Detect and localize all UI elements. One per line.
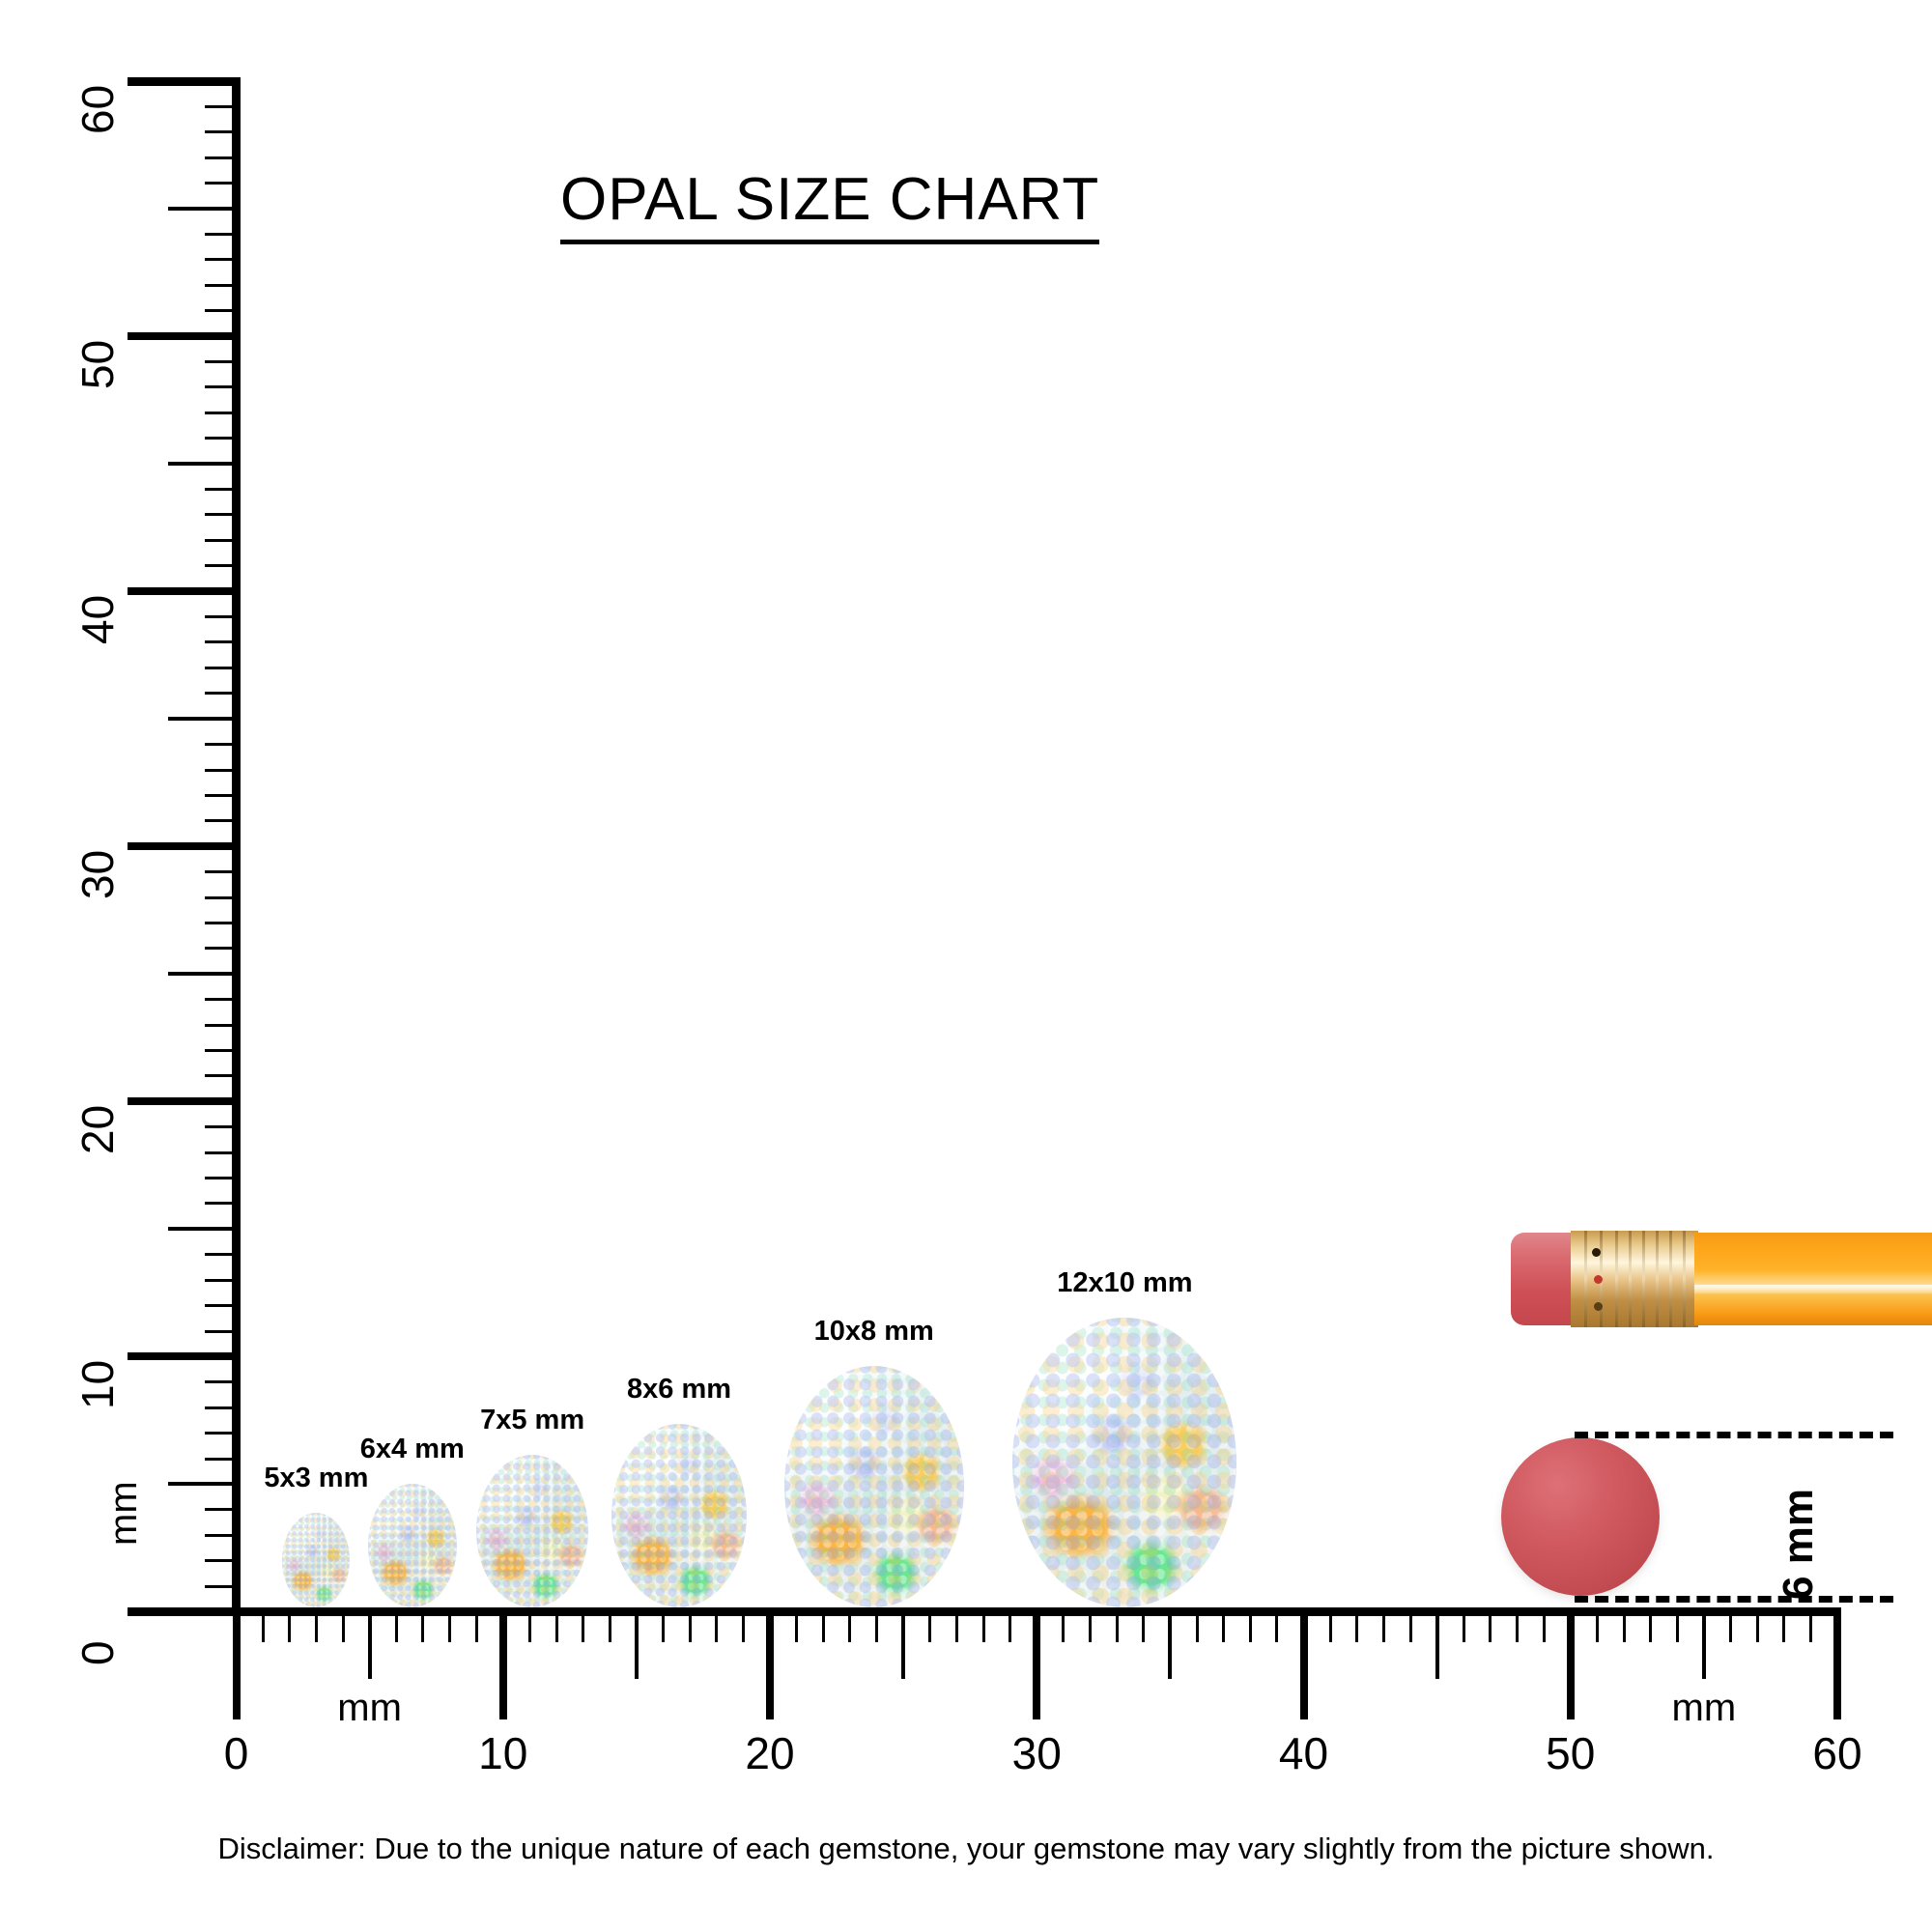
- hruler-tick-37: [1222, 1615, 1225, 1642]
- gemstone-8x6-mm: [611, 1424, 747, 1607]
- gemstone-label-5: 12x10 mm: [1057, 1269, 1192, 1297]
- hruler-tick-47: [1489, 1615, 1492, 1642]
- hruler-tick-51: [1596, 1615, 1599, 1642]
- hruler-number-10: 10: [478, 1731, 527, 1776]
- ferrule-dot-2: [1594, 1302, 1603, 1311]
- hruler-unit-label-1: mm: [1672, 1689, 1737, 1727]
- hruler-tick-25: [901, 1615, 905, 1679]
- hruler-tick-31: [1062, 1615, 1065, 1642]
- hruler-number-40: 40: [1279, 1731, 1328, 1776]
- hruler-number-50: 50: [1546, 1731, 1595, 1776]
- hruler-tick-7: [421, 1615, 424, 1642]
- gemstone-label-2: 7x5 mm: [480, 1406, 584, 1435]
- pencil-ferrule: [1571, 1231, 1698, 1327]
- pencil-reference-object: [1511, 1229, 1932, 1329]
- hruler-tick-38: [1249, 1615, 1252, 1642]
- hruler-tick-28: [982, 1615, 985, 1642]
- hruler-tick-13: [582, 1615, 584, 1642]
- hruler-tick-12: [555, 1615, 558, 1642]
- hruler-tick-45: [1435, 1615, 1439, 1679]
- hruler-tick-18: [715, 1615, 718, 1642]
- gemstone-10x8-mm: [784, 1366, 964, 1607]
- hruler-tick-30: [1033, 1615, 1040, 1719]
- hruler-tick-49: [1543, 1615, 1546, 1642]
- ferrule-ridge-6: [1669, 1231, 1672, 1327]
- hruler-tick-1: [262, 1615, 265, 1642]
- hruler-tick-52: [1623, 1615, 1626, 1642]
- ferrule-dot-1: [1594, 1275, 1603, 1284]
- hruler-tick-60: [1833, 1615, 1841, 1719]
- hruler-tick-23: [848, 1615, 851, 1642]
- hruler-tick-34: [1142, 1615, 1145, 1642]
- callout-dash-bottom: [1575, 1596, 1893, 1603]
- hruler-tick-21: [795, 1615, 798, 1642]
- hruler-tick-35: [1168, 1615, 1172, 1679]
- hruler-tick-16: [662, 1615, 665, 1642]
- hruler-tick-8: [448, 1615, 451, 1642]
- hruler-tick-55: [1702, 1615, 1706, 1679]
- hruler-tick-14: [609, 1615, 611, 1642]
- hruler-tick-26: [928, 1615, 931, 1642]
- hruler-tick-57: [1756, 1615, 1759, 1642]
- gemstone-7x5-mm: [476, 1455, 588, 1607]
- hruler-tick-44: [1409, 1615, 1412, 1642]
- ferrule-ridge-2: [1615, 1231, 1618, 1327]
- gemstone-6x4-mm: [368, 1484, 457, 1607]
- ferrule-ridge-3: [1629, 1231, 1632, 1327]
- horizontal-ruler: 0102030405060mmmm: [0, 0, 1932, 1932]
- gemstone-label-1: 6x4 mm: [360, 1435, 465, 1463]
- ferrule-ridge-5: [1656, 1231, 1659, 1327]
- gemstone-5x3-mm: [282, 1513, 350, 1607]
- hruler-tick-53: [1649, 1615, 1652, 1642]
- hruler-tick-42: [1355, 1615, 1358, 1642]
- hruler-tick-27: [955, 1615, 958, 1642]
- hruler-unit-label-0: mm: [337, 1689, 402, 1727]
- hruler-tick-2: [288, 1615, 291, 1642]
- hruler-tick-54: [1676, 1615, 1679, 1642]
- hruler-tick-22: [822, 1615, 825, 1642]
- hruler-tick-11: [528, 1615, 531, 1642]
- hruler-tick-4: [342, 1615, 345, 1642]
- hruler-tick-59: [1809, 1615, 1812, 1642]
- gemstone-label-3: 8x6 mm: [627, 1376, 731, 1404]
- gemstone-label-0: 5x3 mm: [264, 1464, 368, 1492]
- gemstone-12x10-mm: [1012, 1318, 1236, 1607]
- hruler-tick-5: [368, 1615, 372, 1679]
- ferrule-dot-0: [1592, 1248, 1601, 1257]
- hruler-tick-43: [1382, 1615, 1385, 1642]
- pencil-highlight-stripe: [1694, 1285, 1932, 1293]
- ferrule-ridge-4: [1642, 1231, 1645, 1327]
- hruler-tick-50: [1567, 1615, 1575, 1719]
- hruler-tick-17: [689, 1615, 692, 1642]
- hruler-tick-41: [1329, 1615, 1332, 1642]
- hruler-number-20: 20: [745, 1731, 794, 1776]
- pencil-barrel: [1694, 1233, 1932, 1325]
- hruler-tick-46: [1463, 1615, 1465, 1642]
- gemstone-label-4: 10x8 mm: [814, 1318, 934, 1346]
- hruler-tick-56: [1729, 1615, 1732, 1642]
- hruler-tick-39: [1275, 1615, 1278, 1642]
- hruler-tick-40: [1300, 1615, 1308, 1719]
- ferrule-ridge-0: [1584, 1231, 1587, 1327]
- ferrule-ridge-7: [1683, 1231, 1686, 1327]
- hruler-tick-48: [1516, 1615, 1519, 1642]
- hruler-number-60: 60: [1812, 1731, 1861, 1776]
- hruler-tick-6: [395, 1615, 398, 1642]
- six-mm-callout-label: 6 mm: [1777, 1489, 1820, 1600]
- hruler-tick-24: [875, 1615, 878, 1642]
- hruler-tick-29: [1009, 1615, 1011, 1642]
- hruler-tick-33: [1116, 1615, 1119, 1642]
- hruler-tick-10: [499, 1615, 507, 1719]
- pencil-eraser-disc: [1501, 1437, 1660, 1596]
- hruler-number-0: 0: [224, 1731, 249, 1776]
- hruler-tick-32: [1089, 1615, 1092, 1642]
- hruler-tick-36: [1196, 1615, 1199, 1642]
- opal-size-chart: OPAL SIZE CHART 0102030405060mm 01020304…: [0, 0, 1932, 1932]
- hruler-tick-20: [766, 1615, 774, 1719]
- hruler-tick-3: [315, 1615, 318, 1642]
- pencil-eraser: [1511, 1233, 1578, 1325]
- hruler-tick-58: [1782, 1615, 1785, 1642]
- hruler-tick-9: [475, 1615, 478, 1642]
- ruler-origin-corner: [128, 1607, 240, 1616]
- hruler-number-30: 30: [1012, 1731, 1062, 1776]
- hruler-tick-19: [742, 1615, 745, 1642]
- hruler-tick-0: [233, 1615, 241, 1719]
- callout-dash-top: [1575, 1432, 1893, 1438]
- disclaimer-text: Disclaimer: Due to the unique nature of …: [217, 1833, 1714, 1863]
- hruler-tick-15: [635, 1615, 639, 1679]
